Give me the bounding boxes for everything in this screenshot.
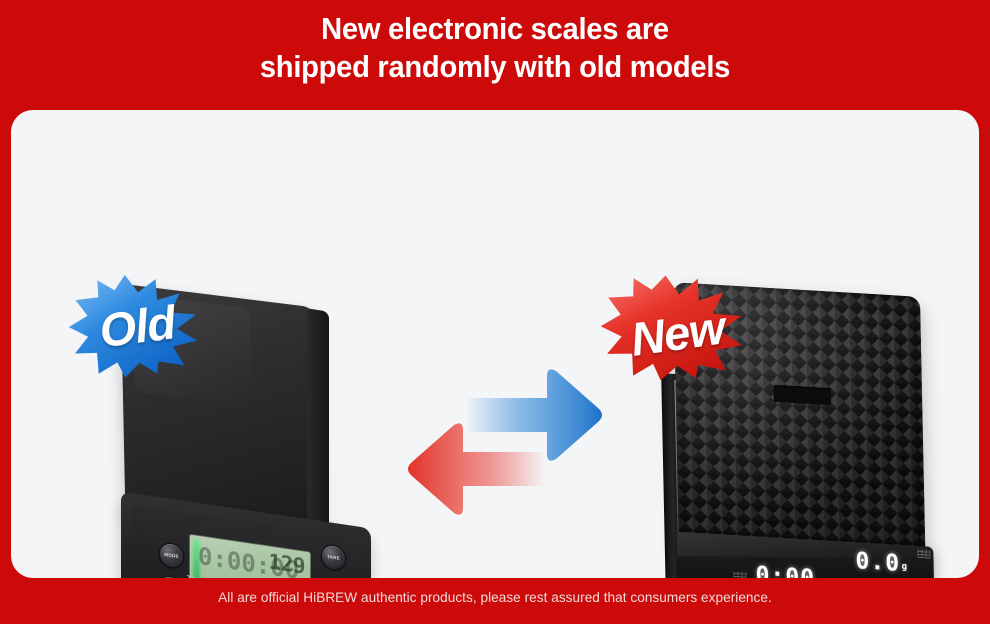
- badge-old: Old: [63, 264, 207, 385]
- old-scale-start-button[interactable]: START ON/OFF: [323, 577, 348, 578]
- old-scale-tare-button[interactable]: TARE: [321, 543, 346, 572]
- led-weight-unit: g: [902, 562, 908, 572]
- old-scale-timer-stop-button[interactable]: TIMER STOP: [158, 574, 183, 578]
- old-scale-mode-button[interactable]: MODE: [159, 541, 184, 570]
- led-timer-value: 0:00: [755, 562, 815, 578]
- footer-caption: All are official HiBREW authentic produc…: [15, 589, 975, 605]
- exchange-arrows: [407, 362, 603, 520]
- touch-pad-icon-left[interactable]: [733, 571, 746, 578]
- red-arrow-left-shape: [408, 423, 545, 514]
- led-weight-value: 0.0: [855, 548, 900, 577]
- lcd-weight-value: 129: [269, 549, 305, 578]
- badge-new: New: [596, 267, 751, 387]
- blue-arrow-right-shape: [465, 369, 602, 460]
- content-card: 0:00:00 129 MODE TIMER STOP TARE START O…: [11, 110, 979, 578]
- starburst-old-shape: [63, 267, 202, 384]
- new-scale-plate-slot: [774, 385, 831, 405]
- old-scale-lcd-display: 0:00:00 129: [189, 534, 311, 578]
- page-title: New electronic scales are shipped random…: [30, 10, 961, 86]
- old-scale-platform-edge: [307, 308, 329, 539]
- starburst-new-shape: [597, 269, 747, 386]
- touch-pad-icon-right[interactable]: [917, 549, 930, 559]
